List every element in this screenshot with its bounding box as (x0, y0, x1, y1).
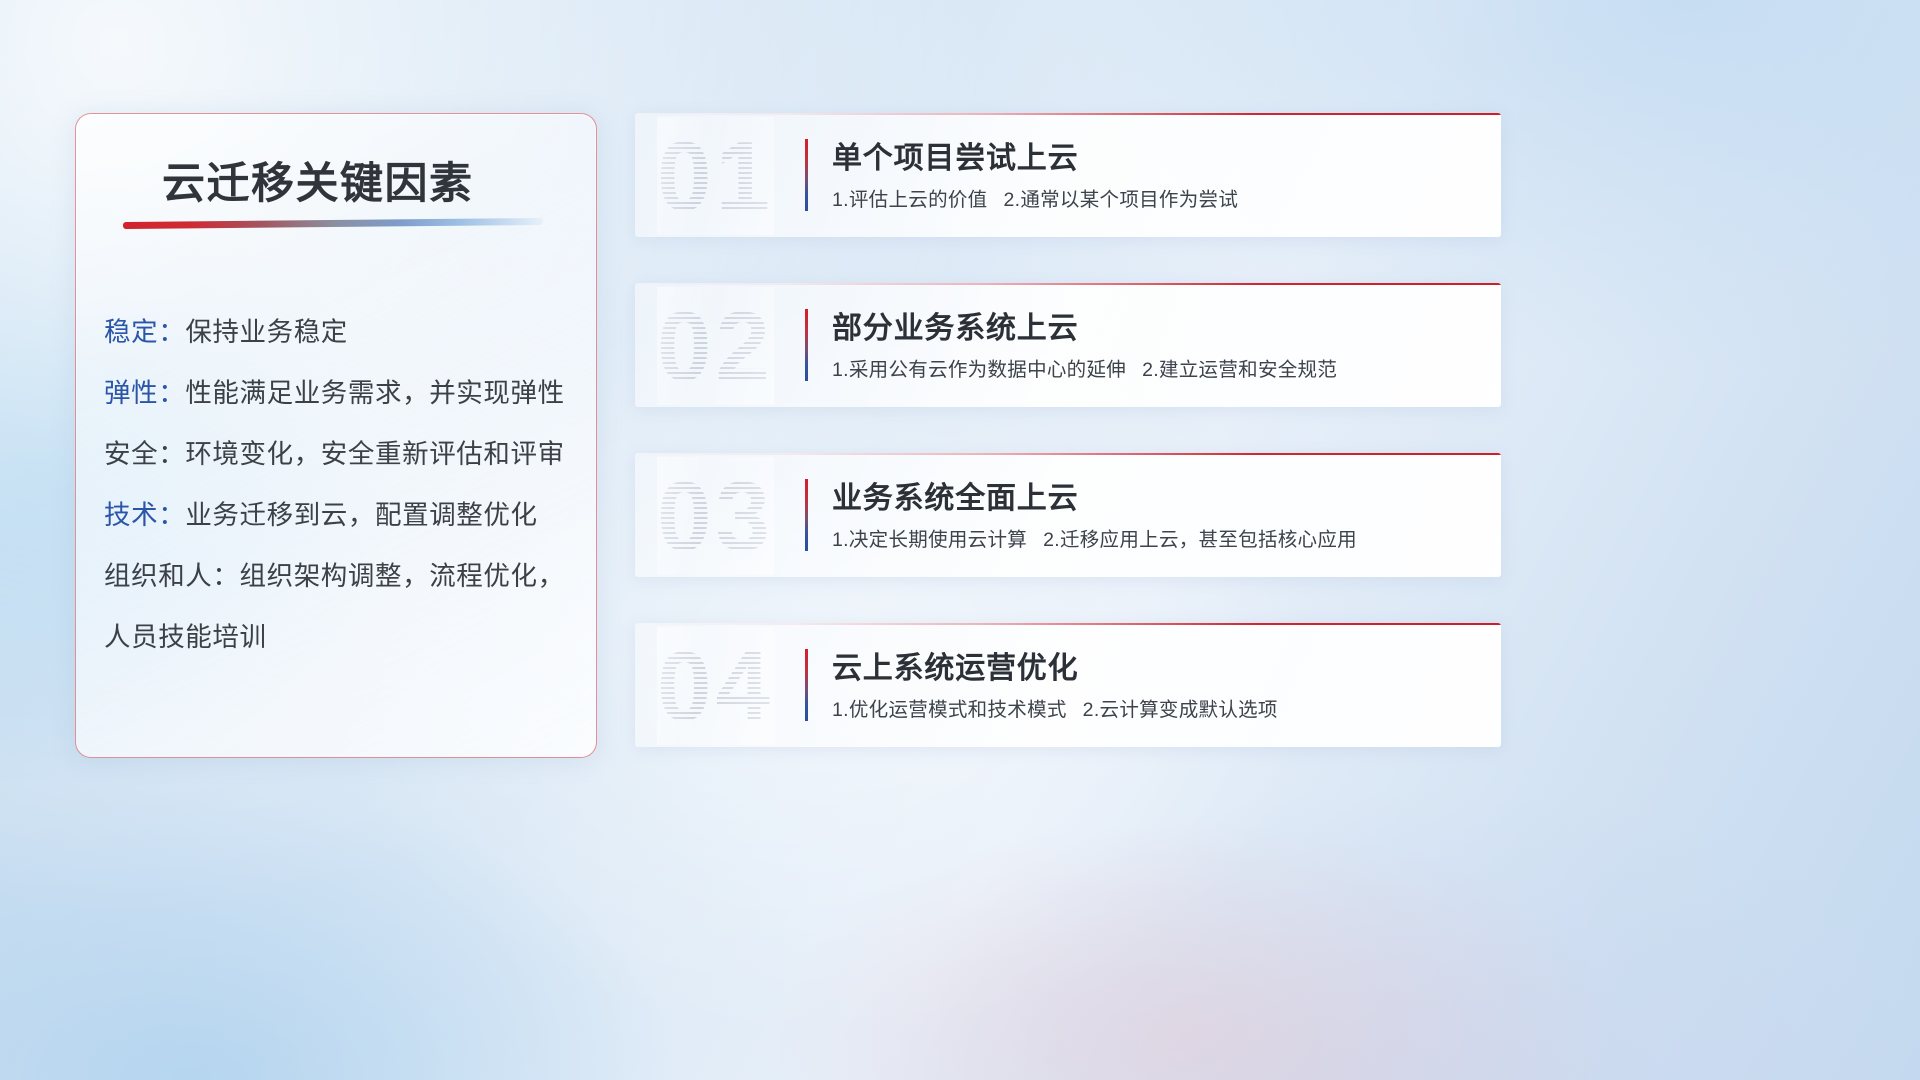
page-title: 云迁移关键因素 (162, 149, 474, 211)
card-point-2: 2.云计算变成默认选项 (1083, 699, 1278, 721)
list-item: 稳定：保持业务稳定 (104, 302, 574, 363)
factor-text-continuation: 人员技能培训 (104, 607, 574, 668)
list-item: 组织和人：组织架构调整，流程优化， (104, 546, 574, 607)
factor-text: 性能满足业务需求，并实现弹性 (185, 378, 564, 408)
card-accent-divider (805, 309, 808, 381)
card-accent-divider (805, 479, 808, 551)
stage-card[interactable]: 03 业务系统全面上云 1.决定长期使用云计算2.迁移应用上云，甚至包括核心应用 (635, 453, 1501, 577)
card-heading: 单个项目尝试上云 (832, 133, 1078, 177)
card-heading: 云上系统运营优化 (832, 643, 1078, 687)
factor-text: 业务迁移到云，配置调整优化 (185, 500, 537, 530)
card-point-2: 2.迁移应用上云，甚至包括核心应用 (1043, 529, 1357, 551)
card-point-1: 1.决定长期使用云计算 (832, 529, 1027, 551)
list-item: 技术：业务迁移到云，配置调整优化 (104, 485, 574, 546)
factor-text: 环境变化，安全重新评估和评审 (185, 439, 564, 469)
factor-label: 弹性： (104, 378, 185, 408)
migration-stage-cards: 01 单个项目尝试上云 1.评估上云的价值2.通常以某个项目作为尝试 02 部分… (635, 113, 1501, 793)
factor-label: 安全： (104, 439, 185, 469)
card-heading: 部分业务系统上云 (832, 303, 1078, 347)
stage-card[interactable]: 01 单个项目尝试上云 1.评估上云的价值2.通常以某个项目作为尝试 (635, 113, 1501, 237)
stage-card[interactable]: 04 云上系统运营优化 1.优化运营模式和技术模式2.云计算变成默认选项 (635, 623, 1501, 747)
title-underline-accent (123, 218, 543, 229)
stage-card[interactable]: 02 部分业务系统上云 1.采用公有云作为数据中心的延伸2.建立运营和安全规范 (635, 283, 1501, 407)
card-accent-divider (805, 649, 808, 721)
card-point-2: 2.建立运营和安全规范 (1142, 359, 1337, 381)
card-point-1: 1.评估上云的价值 (832, 189, 987, 211)
factor-label: 技术： (104, 500, 185, 530)
card-description: 1.评估上云的价值2.通常以某个项目作为尝试 (832, 183, 1238, 212)
card-description: 1.优化运营模式和技术模式2.云计算变成默认选项 (832, 693, 1278, 722)
card-point-2: 2.通常以某个项目作为尝试 (1003, 189, 1238, 211)
list-item: 安全：环境变化，安全重新评估和评审 (104, 424, 574, 485)
key-factors-panel: 云迁移关键因素 稳定：保持业务稳定 弹性：性能满足业务需求，并实现弹性 安全：环… (75, 113, 597, 758)
factor-list: 稳定：保持业务稳定 弹性：性能满足业务需求，并实现弹性 安全：环境变化，安全重新… (104, 302, 574, 668)
card-point-1: 1.采用公有云作为数据中心的延伸 (832, 359, 1126, 381)
factor-label: 组织和人： (104, 561, 240, 591)
factor-text: 保持业务稳定 (185, 317, 348, 347)
stage-number-02: 02 (657, 287, 774, 405)
card-point-1: 1.优化运营模式和技术模式 (832, 699, 1067, 721)
card-description: 1.采用公有云作为数据中心的延伸2.建立运营和安全规范 (832, 353, 1337, 382)
card-accent-divider (805, 139, 808, 211)
factor-label: 稳定： (104, 317, 185, 347)
card-heading: 业务系统全面上云 (832, 473, 1078, 517)
factor-text: 组织架构调整，流程优化， (240, 561, 565, 591)
stage-number-04: 04 (657, 627, 774, 745)
stage-number-01: 01 (657, 117, 774, 235)
list-item: 弹性：性能满足业务需求，并实现弹性 (104, 363, 574, 424)
stage-number-03: 03 (657, 457, 774, 575)
card-description: 1.决定长期使用云计算2.迁移应用上云，甚至包括核心应用 (832, 523, 1357, 552)
